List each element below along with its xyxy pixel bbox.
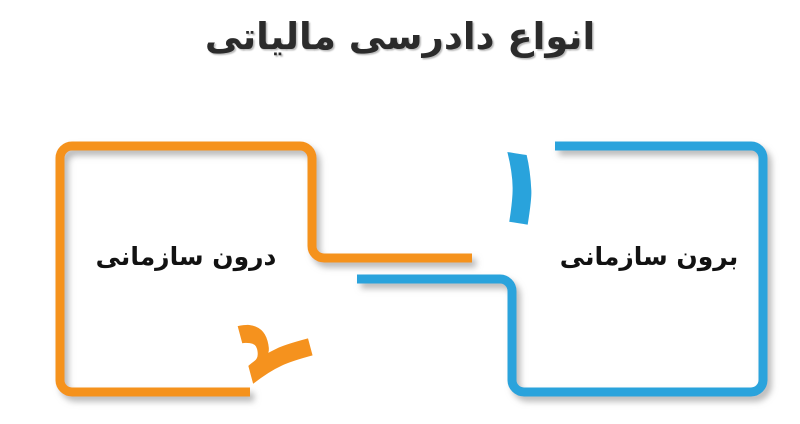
diagram-frames (0, 0, 800, 424)
outside-organization-label: برون سازمانی (530, 240, 768, 274)
infographic-canvas: انواع دادرسی مالیاتی ۱ ۲ برون سازمانی در… (0, 0, 800, 424)
inside-organization-label: درون سازمانی (62, 240, 310, 274)
